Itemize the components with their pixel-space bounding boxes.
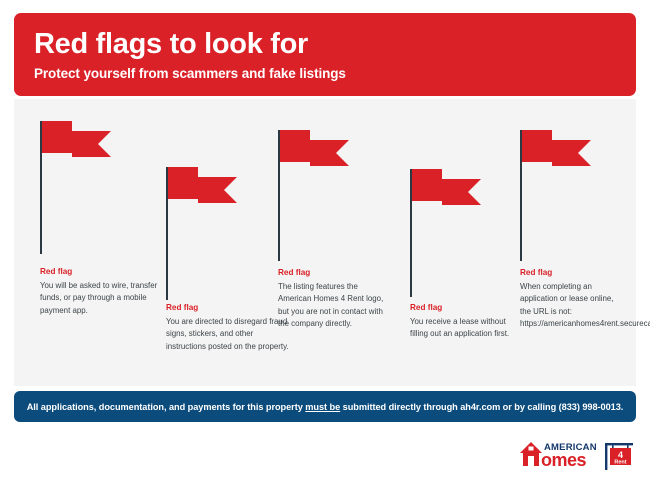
logo-word-american: AMERICAN (544, 442, 597, 453)
footer-notice: All applications, documentation, and pay… (27, 402, 624, 412)
page-subtitle: Protect yourself from scammers and fake … (34, 65, 636, 83)
infographic-page: Red flags to look for Protect yourself f… (0, 0, 650, 488)
entry-label: Red flag (166, 302, 198, 313)
footer-text-emphasis: must be (305, 402, 340, 412)
entry-text: You receive a lease without filling out … (410, 316, 515, 341)
american-homes-4-rent-logo: omes AMERICAN 4 Rent (517, 436, 637, 478)
red-flag-icon (168, 167, 240, 213)
logo-sign-number: 4 (618, 450, 623, 460)
entry-label: Red flag (410, 302, 442, 313)
entry-label: Red flag (40, 266, 72, 277)
entry-text: The listing features the American Homes … (278, 281, 386, 331)
svg-text:omes: omes (541, 450, 587, 470)
logo-sign-word: Rent (614, 460, 626, 466)
red-flag-icon (280, 130, 352, 176)
entry-text: You are directed to disregard fraud sign… (166, 316, 294, 353)
entry-text: You will be asked to wire, transfer fund… (40, 280, 160, 317)
footer-bar: All applications, documentation, and pay… (14, 391, 636, 422)
red-flag-icon (412, 169, 484, 215)
body-panel: Red flag You will be asked to wire, tran… (14, 99, 636, 386)
page-title: Red flags to look for (34, 27, 636, 61)
entry-label: Red flag (520, 267, 552, 278)
red-flag-icon (522, 130, 594, 176)
footer-text-after: submitted directly through ah4r.com or b… (340, 402, 623, 412)
red-flag-icon (42, 121, 114, 167)
header-banner: Red flags to look for Protect yourself f… (14, 13, 636, 96)
entry-text: When completing an application or lease … (520, 281, 624, 331)
entry-label: Red flag (278, 267, 310, 278)
footer-text-before: All applications, documentation, and pay… (27, 402, 306, 412)
